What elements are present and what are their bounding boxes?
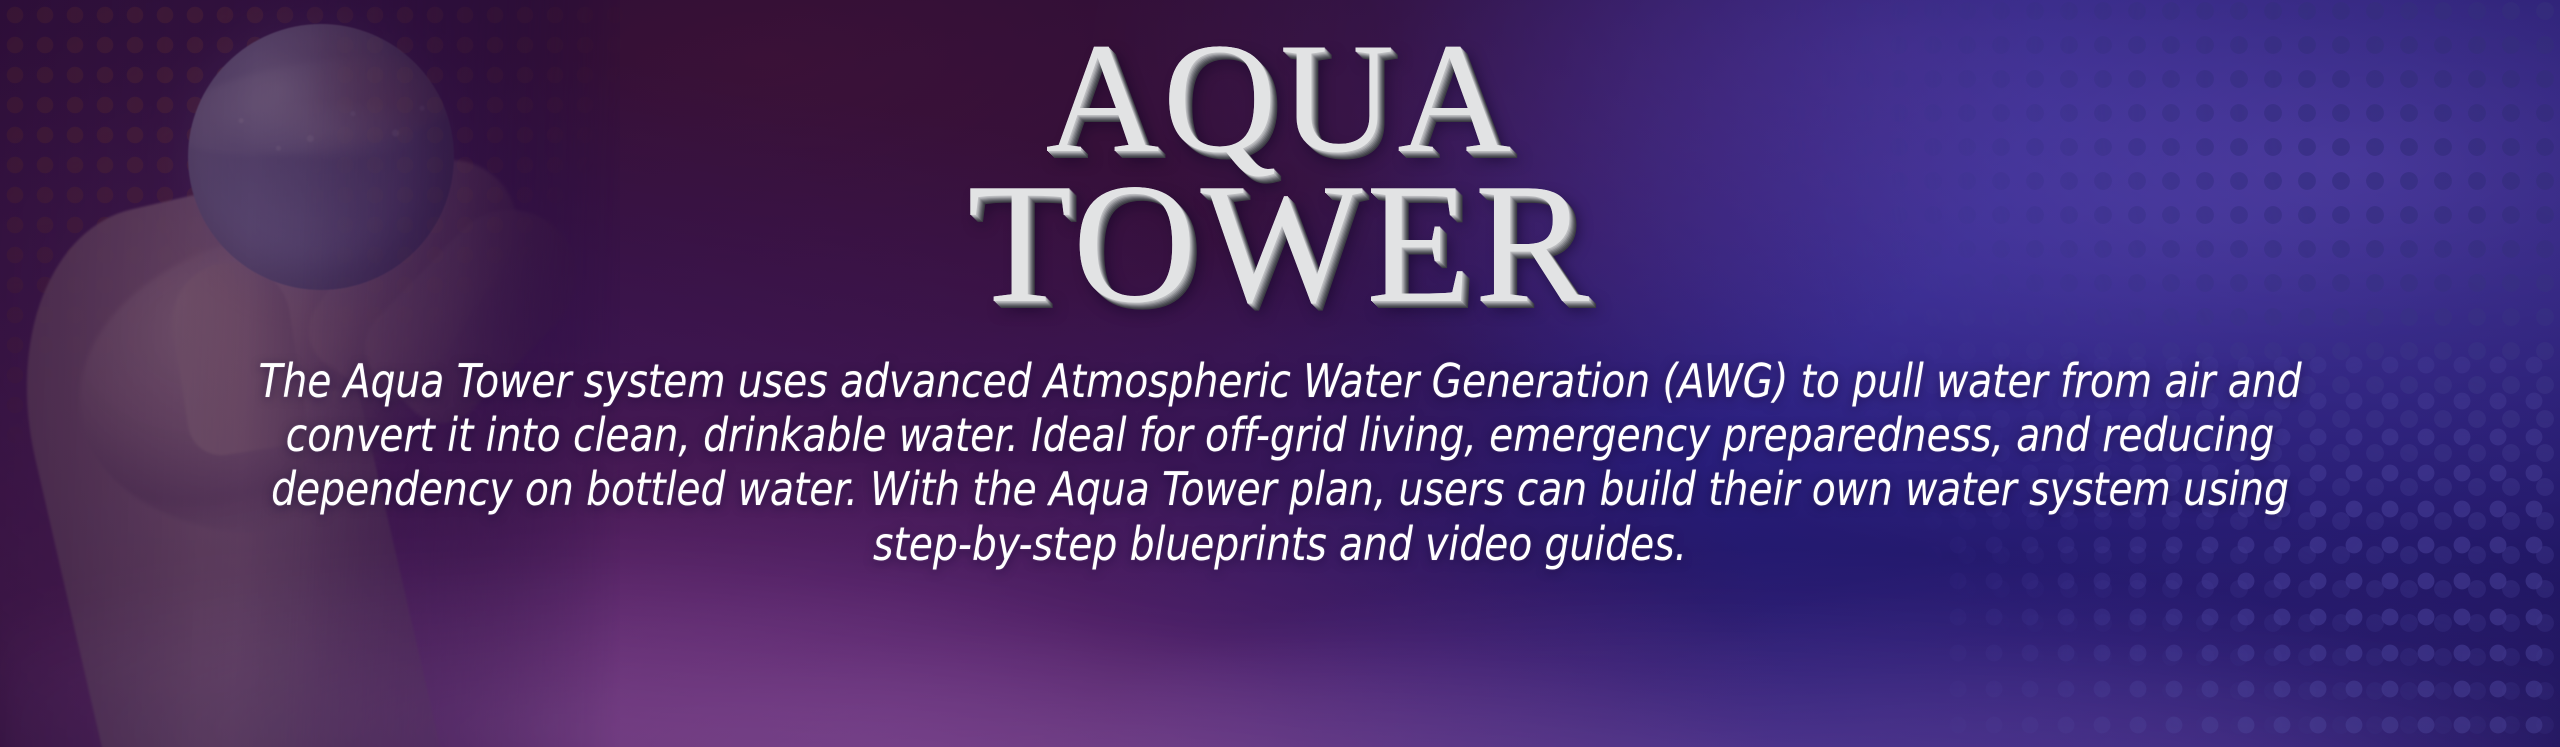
banner-description: The Aqua Tower system uses advanced Atmo… (255, 354, 2304, 572)
aqua-tower-hero-banner: AQUA TOWER The Aqua Tower system uses ad… (0, 0, 2560, 747)
banner-content: AQUA TOWER The Aqua Tower system uses ad… (0, 0, 2560, 747)
brand-title-line-tower: TOWER (967, 165, 1593, 323)
brand-title: AQUA TOWER (967, 26, 1593, 324)
